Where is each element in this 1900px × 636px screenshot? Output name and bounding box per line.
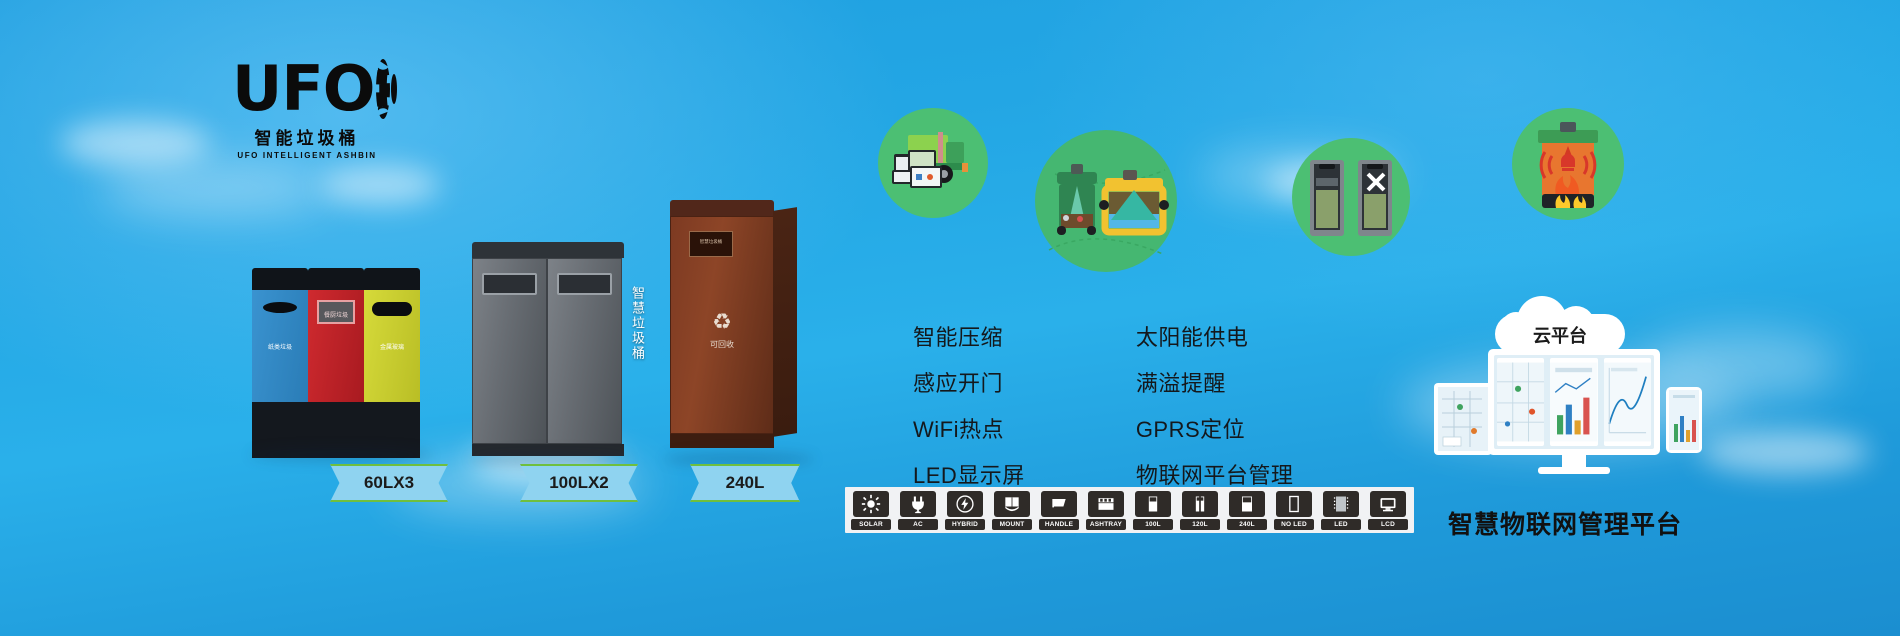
feature-item: 物联网平台管理: [1103, 458, 1294, 490]
monitor-icon: [880, 421, 899, 436]
spec-label: HANDLE: [1039, 519, 1079, 530]
phone-chart-graphic: [1669, 390, 1699, 450]
feature-circle-fill-level-sensor: [1035, 130, 1177, 272]
feature-label: LED显示屏: [913, 458, 1025, 490]
spec-item-no-led: NO LED: [1274, 491, 1314, 530]
truck-monitoring-icon: [878, 108, 988, 218]
spec-label: HYBRID: [945, 519, 985, 530]
cloud-wisp: [60, 120, 210, 166]
spec-label: 240L: [1227, 519, 1267, 530]
lcd-icon: [1370, 491, 1406, 517]
brand-logo: UFO 智能垃圾桶 UFO INTELLIGENT ASHBIN: [232, 56, 382, 160]
bin-lid: [670, 200, 774, 216]
bin-base: [670, 434, 774, 448]
ufo-ring-icon: [376, 59, 390, 119]
spec-icon-strip: SOLAR AC HYBRID: [845, 487, 1414, 533]
feature-label: 满溢提醒: [1136, 366, 1226, 398]
bin-panel-label: 金属玻璃: [364, 342, 420, 351]
fill-level-sensor-icon: [1035, 130, 1177, 272]
plug-icon: [900, 491, 936, 517]
feature-circle-fire-alarm: [1512, 108, 1624, 220]
iot-device-cluster: [1430, 345, 1720, 485]
spec-item-100l: 100L: [1133, 491, 1173, 530]
feature-label: 感应开门: [913, 366, 1003, 398]
bin-display-screen: 智慧垃圾桶: [689, 231, 733, 257]
spec-label: 120L: [1180, 519, 1220, 530]
lightning-icon: [947, 491, 983, 517]
product-bin-100lx2: 智慧垃圾桶: [472, 242, 624, 456]
spec-label: NO LED: [1274, 519, 1314, 530]
logo-chinese-text: 智能垃圾桶: [232, 124, 382, 149]
bin-shadow: [470, 452, 630, 466]
product-bin-60lx3: 纸类垃圾 餐厨垃圾 金属玻璃: [252, 268, 420, 458]
bin-240l-icon: [1229, 491, 1265, 517]
bin-panel: 餐厨垃圾: [308, 268, 364, 458]
spec-item-120l: 120L: [1180, 491, 1220, 530]
monitor-icon: [1103, 467, 1122, 482]
bin-face-paper: 纸类垃圾: [252, 290, 308, 402]
feature-item: 感应开门: [880, 366, 1025, 398]
bin-slot-icon: [372, 302, 412, 316]
spec-item-led: LED: [1321, 491, 1361, 530]
monitor-base: [1538, 467, 1610, 474]
product-label-ribbon: 60LX3: [330, 464, 448, 502]
cloud-tag-label: 云平台: [1495, 322, 1625, 348]
feature-item: 满溢提醒: [1103, 366, 1294, 398]
logo-english-text: UFO INTELLIGENT ASHBIN: [232, 151, 382, 160]
monitor-icon: [880, 467, 899, 482]
bin-panel-label: 纸类垃圾: [252, 342, 308, 351]
product-label-ribbon: 240L: [690, 464, 800, 502]
spec-item-solar: SOLAR: [851, 491, 891, 530]
monitor-icon: [1103, 421, 1122, 436]
feature-label: 智能压缩: [913, 320, 1003, 352]
compaction-bins-icon: [1292, 138, 1410, 256]
led-icon: [1323, 491, 1359, 517]
sun-icon: [853, 491, 889, 517]
feature-list: 智能压缩 感应开门 WiFi热点 LED显示屏 太阳能供电 满溢提醒: [880, 320, 1293, 490]
logo-wordmark: UFO: [232, 56, 382, 122]
tablet-device: [1434, 383, 1492, 455]
feature-item: 太阳能供电: [1103, 320, 1294, 352]
monitor-icon: [1103, 375, 1122, 390]
handle-icon: [1041, 491, 1077, 517]
logo-letters: UFO: [232, 61, 374, 117]
smartphone-device: [1666, 387, 1702, 453]
dashboard-stats-panel: [1550, 358, 1597, 446]
feature-label: WiFi热点: [913, 412, 1004, 444]
bin-window: [557, 273, 612, 295]
cloud-platform-tag: 云平台: [1495, 296, 1625, 354]
bin-face-metal: 金属玻璃: [364, 290, 420, 402]
spec-item-ac: AC: [898, 491, 938, 530]
spec-label: LCD: [1368, 519, 1408, 530]
product-bin-240l: 智慧垃圾桶 ♻ 可回收: [670, 200, 774, 448]
cloud-wisp: [320, 165, 440, 205]
bin-100l-icon: [1135, 491, 1171, 517]
mount-icon: [994, 491, 1030, 517]
bin-slot-icon: [263, 302, 297, 313]
cloud-wisp: [1700, 430, 1870, 474]
bin-side-panel: [773, 207, 797, 437]
bin-120l-icon: [1182, 491, 1218, 517]
bin-body: 智慧垃圾桶 ♻ 可回收: [670, 216, 774, 434]
spec-label: MOUNT: [992, 519, 1032, 530]
dashboard-chart-panel: [1604, 358, 1651, 446]
bin-panel: 金属玻璃: [364, 268, 420, 458]
feature-circle-compaction-bins: [1292, 138, 1410, 256]
bin-lid: [252, 268, 308, 290]
spec-item-ashtray: ASHTRAY: [1086, 491, 1126, 530]
bin-shadow: [664, 452, 814, 466]
dashboard-map-panel: [1497, 358, 1544, 446]
cloud-wisp: [100, 160, 330, 216]
bin-lid: [308, 268, 364, 290]
spec-item-lcd: LCD: [1368, 491, 1408, 530]
feature-circle-truck-monitoring: [878, 108, 988, 218]
spec-label: 100L: [1133, 519, 1173, 530]
bin-screen-text: 智慧垃圾桶: [690, 232, 732, 245]
spec-item-240l: 240L: [1227, 491, 1267, 530]
bin-shadow: [250, 448, 432, 462]
feature-item: LED显示屏: [880, 458, 1025, 490]
feature-label: 太阳能供电: [1136, 320, 1249, 352]
ashtray-icon: [1088, 491, 1124, 517]
product-label-ribbon: 100LX2: [520, 464, 638, 502]
platform-title: 智慧物联网管理平台: [1448, 505, 1682, 541]
spec-item-handle: HANDLE: [1039, 491, 1079, 530]
desktop-monitor: [1488, 349, 1660, 455]
marketing-banner: UFO 智能垃圾桶 UFO INTELLIGENT ASHBIN 纸类垃圾 餐厨…: [0, 0, 1900, 636]
bin-lid: [472, 242, 624, 258]
spec-item-hybrid: HYBRID: [945, 491, 985, 530]
feature-label: 物联网平台管理: [1136, 458, 1294, 490]
bin-panel-label: 餐厨垃圾: [308, 310, 364, 319]
monitor-icon: [1103, 329, 1122, 344]
spec-label: ASHTRAY: [1086, 519, 1126, 530]
feature-item: GPRS定位: [1103, 412, 1294, 444]
spec-label: SOLAR: [851, 519, 891, 530]
bin-compartment: [472, 258, 547, 444]
recycle-icon: ♻: [712, 309, 732, 335]
bin-compartment: [547, 258, 622, 444]
tablet-screen: [1438, 387, 1488, 451]
bin-face-kitchen: 餐厨垃圾: [308, 290, 364, 402]
bin-window: [482, 273, 537, 295]
recycle-label: 可回收: [671, 339, 773, 350]
spec-label: AC: [898, 519, 938, 530]
fire-alarm-bin-icon: [1512, 108, 1624, 220]
monitor-icon: [880, 375, 899, 390]
no-led-icon: [1276, 491, 1312, 517]
spec-item-mount: MOUNT: [992, 491, 1032, 530]
tablet-map-graphic: [1438, 387, 1488, 451]
monitor-icon: [880, 329, 899, 344]
bin-lid: [364, 268, 420, 290]
monitor-screen: [1494, 355, 1654, 449]
bin-side-text: 智慧垃圾桶: [628, 286, 647, 361]
feature-column-right: 太阳能供电 满溢提醒 GPRS定位 物联网平台管理: [1103, 320, 1294, 490]
bin-panel: 纸类垃圾: [252, 268, 308, 458]
feature-item: WiFi热点: [880, 412, 1025, 444]
feature-item: 智能压缩: [880, 320, 1025, 352]
phone-screen: [1669, 390, 1699, 450]
feature-column-left: 智能压缩 感应开门 WiFi热点 LED显示屏: [880, 320, 1025, 490]
bin-body: [472, 258, 622, 444]
spec-label: LED: [1321, 519, 1361, 530]
feature-label: GPRS定位: [1136, 412, 1245, 444]
